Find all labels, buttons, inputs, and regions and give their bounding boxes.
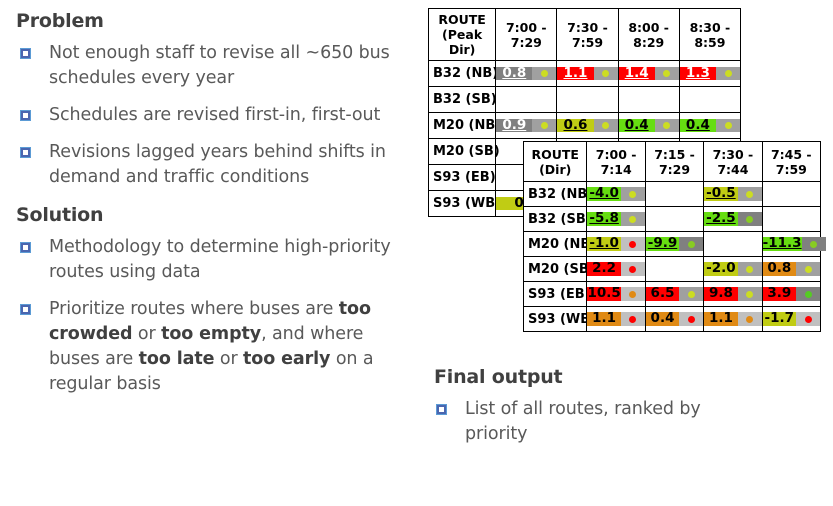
status-dot-icon bbox=[810, 241, 817, 248]
status-dot-icon bbox=[805, 316, 812, 323]
table-row[interactable]: M20 (NB)0.90.60.40.4 bbox=[429, 113, 741, 139]
route-label-cell: S93 (WB) bbox=[429, 191, 496, 217]
cell-content: 0.4 bbox=[680, 119, 740, 133]
cell-indicator-swatch bbox=[802, 237, 826, 251]
cell-indicator-swatch bbox=[621, 262, 645, 276]
data-cell[interactable]: 2.2 bbox=[587, 257, 645, 282]
cell-content: 9.8 bbox=[704, 287, 761, 301]
data-cell[interactable]: 1.4 bbox=[618, 61, 679, 87]
data-cell[interactable]: -2.0 bbox=[704, 257, 762, 282]
column-header-timeband: 7:30 - 7:59 bbox=[557, 9, 618, 61]
data-cell[interactable]: 0.4 bbox=[645, 307, 703, 332]
solution-bullet-list: Methodology to determine high-priority r… bbox=[14, 235, 414, 397]
bullet-square-icon bbox=[20, 304, 31, 315]
column-header-timeband: 8:30 - 8:59 bbox=[679, 9, 740, 61]
cell-value: 0.4 bbox=[619, 119, 655, 133]
table-row[interactable]: B32 (SB) bbox=[429, 87, 741, 113]
cell-content: -0.5 bbox=[704, 187, 761, 201]
data-cell[interactable] bbox=[557, 87, 618, 113]
data-cell[interactable] bbox=[679, 87, 740, 113]
list-item: Methodology to determine high-priority r… bbox=[14, 235, 414, 285]
data-cell[interactable]: 0.6 bbox=[557, 113, 618, 139]
problem-bullet-list: Not enough staff to revise all ~650 bus … bbox=[14, 41, 414, 190]
status-dot-icon bbox=[688, 291, 695, 298]
list-item: Schedules are revised first-in, first-ou… bbox=[14, 103, 414, 128]
cell-content: 1.1 bbox=[704, 312, 761, 326]
cell-content: 0.6 bbox=[557, 119, 617, 133]
cell-content: 0.8 bbox=[496, 67, 556, 81]
cell-content: -4.0 bbox=[587, 187, 644, 201]
route-label-cell: M20 (NB) bbox=[524, 232, 587, 257]
cell-value: -0.5 bbox=[704, 187, 737, 201]
cell-content: -11.3 bbox=[763, 237, 820, 251]
status-dot-icon bbox=[629, 216, 636, 223]
ontime-table-body: ROUTE (Dir)7:00 - 7:147:15 - 7:297:30 - … bbox=[524, 142, 821, 332]
table-row[interactable]: S93 (EB)10.56.59.83.9 bbox=[524, 282, 821, 307]
cell-content: -1.0 bbox=[587, 237, 644, 251]
cell-value: -1.0 bbox=[587, 237, 620, 251]
cell-content: 0.8 bbox=[763, 262, 820, 276]
cell-value: 1.1 bbox=[557, 67, 593, 81]
cell-content: 0.4 bbox=[646, 312, 703, 326]
column-header-timeband: 7:00 - 7:29 bbox=[496, 9, 557, 61]
column-header-timeband: 8:00 - 8:29 bbox=[618, 9, 679, 61]
status-dot-icon bbox=[541, 122, 548, 129]
data-cell[interactable]: -11.3 bbox=[762, 232, 820, 257]
cell-value: 1.4 bbox=[619, 67, 655, 81]
cell-value: 1.1 bbox=[587, 312, 620, 326]
table-row[interactable]: B32 (NB)-4.0-0.5 bbox=[524, 182, 821, 207]
table-header-row: ROUTE (Peak Dir)7:00 - 7:297:30 - 7:598:… bbox=[429, 9, 741, 61]
cell-content: -2.5 bbox=[704, 212, 761, 226]
cell-value: -2.5 bbox=[704, 212, 737, 226]
route-label-cell: B32 (NB) bbox=[524, 182, 587, 207]
cell-value: 1.1 bbox=[704, 312, 737, 326]
cell-content: -5.8 bbox=[587, 212, 644, 226]
status-dot-icon bbox=[688, 241, 695, 248]
route-label-cell: M20 (SB) bbox=[429, 139, 496, 165]
cell-indicator-swatch bbox=[621, 237, 645, 251]
table-row[interactable]: S93 (WB)1.10.41.1-1.7 bbox=[524, 307, 821, 332]
route-label-cell: S93 (WB) bbox=[524, 307, 587, 332]
data-cell[interactable]: -1.7 bbox=[762, 307, 820, 332]
data-cell[interactable]: -0.5 bbox=[704, 182, 762, 207]
cell-content: 0.9 bbox=[496, 119, 556, 133]
cell-indicator-swatch bbox=[679, 237, 703, 251]
cell-content: 1.1 bbox=[557, 67, 617, 81]
cell-content: 0.4 bbox=[619, 119, 679, 133]
bullet-square-icon bbox=[20, 147, 31, 158]
table-row[interactable]: B32 (SB)-5.8-2.5 bbox=[524, 207, 821, 232]
data-cell[interactable] bbox=[645, 182, 703, 207]
data-cell[interactable]: 0.9 bbox=[496, 113, 557, 139]
status-dot-icon bbox=[805, 266, 812, 273]
cell-indicator-swatch bbox=[738, 262, 762, 276]
table-row[interactable]: B32 (NB)0.81.11.41.3 bbox=[429, 61, 741, 87]
cell-content: 1.1 bbox=[587, 312, 644, 326]
bullet-text: Not enough staff to revise all ~650 bus … bbox=[49, 41, 414, 91]
cell-indicator-swatch bbox=[655, 119, 679, 133]
status-dot-icon bbox=[663, 122, 670, 129]
cell-indicator-swatch bbox=[621, 187, 645, 201]
cell-value: 3.9 bbox=[763, 287, 796, 301]
status-dot-icon bbox=[746, 291, 753, 298]
status-dot-icon bbox=[541, 70, 548, 77]
cell-content: 3.9 bbox=[763, 287, 820, 301]
route-label-cell: S93 (EB) bbox=[524, 282, 587, 307]
cell-indicator-swatch bbox=[796, 262, 820, 276]
cell-content: 6.5 bbox=[646, 287, 703, 301]
cell-content: 10.5 bbox=[587, 287, 644, 301]
cell-indicator-swatch bbox=[621, 212, 645, 226]
cell-value: 0.4 bbox=[646, 312, 679, 326]
status-dot-icon bbox=[746, 266, 753, 273]
status-dot-icon bbox=[629, 241, 636, 248]
data-cell[interactable]: 1.1 bbox=[557, 61, 618, 87]
data-cell[interactable] bbox=[645, 207, 703, 232]
column-header-route: ROUTE (Peak Dir) bbox=[429, 9, 496, 61]
status-dot-icon bbox=[629, 316, 636, 323]
problem-section: Problem Not enough staff to revise all ~… bbox=[14, 10, 414, 190]
column-header-timeband: 7:15 - 7:29 bbox=[645, 142, 703, 182]
data-cell[interactable]: -1.0 bbox=[587, 232, 645, 257]
column-header-route: ROUTE (Dir) bbox=[524, 142, 587, 182]
bullet-text: List of all routes, ranked by priority bbox=[465, 397, 762, 447]
section-heading-problem: Problem bbox=[16, 10, 414, 32]
cell-indicator-swatch bbox=[532, 67, 556, 81]
bullet-square-icon bbox=[20, 242, 31, 253]
cell-value: 0.4 bbox=[680, 119, 716, 133]
cell-value: -9.9 bbox=[646, 237, 679, 251]
cell-indicator-swatch bbox=[738, 312, 762, 326]
cell-content: -2.0 bbox=[704, 262, 761, 276]
status-dot-icon bbox=[629, 191, 636, 198]
cell-indicator-swatch bbox=[738, 187, 762, 201]
route-label-cell: M20 (NB) bbox=[429, 113, 496, 139]
final-output-bullet-list: List of all routes, ranked by priority bbox=[432, 397, 762, 447]
cell-indicator-swatch bbox=[594, 119, 618, 133]
cell-indicator-swatch bbox=[655, 67, 679, 81]
section-heading-final-output: Final output bbox=[434, 366, 762, 388]
cell-indicator-swatch bbox=[621, 312, 645, 326]
cell-indicator-swatch bbox=[738, 212, 762, 226]
cell-indicator-swatch bbox=[796, 312, 820, 326]
list-item: Not enough staff to revise all ~650 bus … bbox=[14, 41, 414, 91]
cell-value: -5.8 bbox=[587, 212, 620, 226]
data-cell[interactable]: 6.5 bbox=[645, 282, 703, 307]
cell-value: 9.8 bbox=[704, 287, 737, 301]
cell-indicator-swatch bbox=[716, 67, 740, 81]
data-cell[interactable]: 3.9 bbox=[762, 282, 820, 307]
column-header-timeband: 7:00 - 7:14 bbox=[587, 142, 645, 182]
data-cell[interactable] bbox=[704, 232, 762, 257]
status-dot-icon bbox=[746, 191, 753, 198]
route-label-cell: S93 (EB) bbox=[429, 165, 496, 191]
data-cell[interactable]: 1.1 bbox=[704, 307, 762, 332]
ontime-table[interactable]: ROUTE (Dir)7:00 - 7:147:15 - 7:297:30 - … bbox=[523, 141, 821, 332]
cell-value: 0.8 bbox=[763, 262, 796, 276]
list-item: List of all routes, ranked by priority bbox=[432, 397, 762, 447]
cell-value: -1.7 bbox=[763, 312, 796, 326]
cell-content: -1.7 bbox=[763, 312, 820, 326]
route-label-cell: B32 (SB) bbox=[524, 207, 587, 232]
data-cell[interactable]: 0.8 bbox=[496, 61, 557, 87]
cell-value: -4.0 bbox=[587, 187, 620, 201]
bullet-text: Methodology to determine high-priority r… bbox=[49, 235, 414, 285]
route-label-cell: B32 (SB) bbox=[429, 87, 496, 113]
section-heading-solution: Solution bbox=[16, 204, 414, 226]
data-cell[interactable] bbox=[762, 182, 820, 207]
status-dot-icon bbox=[725, 70, 732, 77]
left-content-column: Problem Not enough staff to revise all ~… bbox=[14, 10, 414, 409]
cell-indicator-swatch bbox=[621, 287, 645, 301]
bullet-text: Revisions lagged years behind shifts in … bbox=[49, 140, 414, 190]
cell-indicator-swatch bbox=[594, 67, 618, 81]
route-label-cell: B32 (NB) bbox=[429, 61, 496, 87]
status-dot-icon bbox=[746, 216, 753, 223]
cell-value: 0.6 bbox=[557, 119, 593, 133]
data-cell[interactable]: 0.8 bbox=[762, 257, 820, 282]
status-dot-icon bbox=[746, 316, 753, 323]
status-dot-icon bbox=[805, 291, 812, 298]
bullet-square-icon bbox=[436, 404, 447, 415]
data-cell[interactable]: -9.9 bbox=[645, 232, 703, 257]
cell-indicator-swatch bbox=[679, 287, 703, 301]
cell-indicator-swatch bbox=[796, 287, 820, 301]
cell-indicator-swatch bbox=[716, 119, 740, 133]
bullet-text: Schedules are revised first-in, first-ou… bbox=[49, 103, 380, 128]
cell-indicator-swatch bbox=[738, 287, 762, 301]
bullet-square-icon bbox=[20, 48, 31, 59]
data-cell[interactable]: 0.4 bbox=[679, 113, 740, 139]
cell-value: 10.5 bbox=[587, 287, 620, 301]
cell-content: -9.9 bbox=[646, 237, 703, 251]
route-label-cell: M20 (SB) bbox=[524, 257, 587, 282]
column-header-timeband: 7:30 - 7:44 bbox=[704, 142, 762, 182]
cell-value: 2.2 bbox=[587, 262, 620, 276]
column-header-timeband: 7:45 - 7:59 bbox=[762, 142, 820, 182]
data-cell[interactable]: 1.3 bbox=[679, 61, 740, 87]
bullet-square-icon bbox=[20, 110, 31, 121]
data-cell[interactable] bbox=[762, 207, 820, 232]
status-dot-icon bbox=[629, 291, 636, 298]
status-dot-icon bbox=[602, 122, 609, 129]
table-row[interactable]: M20 (SB)2.2-2.00.8 bbox=[524, 257, 821, 282]
solution-section: Solution Methodology to determine high-p… bbox=[14, 204, 414, 397]
cell-indicator-swatch bbox=[532, 119, 556, 133]
data-cell[interactable] bbox=[496, 87, 557, 113]
cell-value: 0.9 bbox=[496, 119, 532, 133]
cell-value: -11.3 bbox=[763, 237, 802, 251]
table-row[interactable]: M20 (NB)-1.0-9.9-11.3 bbox=[524, 232, 821, 257]
data-cell[interactable]: 10.5 bbox=[587, 282, 645, 307]
cell-content: 1.4 bbox=[619, 67, 679, 81]
data-cell[interactable]: -5.8 bbox=[587, 207, 645, 232]
cell-value: -2.0 bbox=[704, 262, 737, 276]
status-dot-icon bbox=[629, 266, 636, 273]
status-dot-icon bbox=[688, 316, 695, 323]
status-dot-icon bbox=[663, 70, 670, 77]
list-item: Prioritize routes where buses are too cr… bbox=[14, 297, 414, 397]
data-cell[interactable] bbox=[645, 257, 703, 282]
bullet-text: Prioritize routes where buses are too cr… bbox=[49, 297, 414, 397]
data-cell[interactable]: 0.4 bbox=[618, 113, 679, 139]
status-dot-icon bbox=[602, 70, 609, 77]
table-header-row: ROUTE (Dir)7:00 - 7:147:15 - 7:297:30 - … bbox=[524, 142, 821, 182]
status-dot-icon bbox=[725, 122, 732, 129]
cell-content: 2.2 bbox=[587, 262, 644, 276]
data-cell[interactable] bbox=[618, 87, 679, 113]
cell-value: 0.8 bbox=[496, 67, 532, 81]
cell-value: 1.3 bbox=[680, 67, 716, 81]
data-cell[interactable]: 1.1 bbox=[587, 307, 645, 332]
cell-value: 6.5 bbox=[646, 287, 679, 301]
cell-indicator-swatch bbox=[679, 312, 703, 326]
list-item: Revisions lagged years behind shifts in … bbox=[14, 140, 414, 190]
final-output-section: Final output List of all routes, ranked … bbox=[432, 366, 762, 459]
data-cell[interactable]: -2.5 bbox=[704, 207, 762, 232]
data-cell[interactable]: -4.0 bbox=[587, 182, 645, 207]
cell-content: 1.3 bbox=[680, 67, 740, 81]
data-cell[interactable]: 9.8 bbox=[704, 282, 762, 307]
